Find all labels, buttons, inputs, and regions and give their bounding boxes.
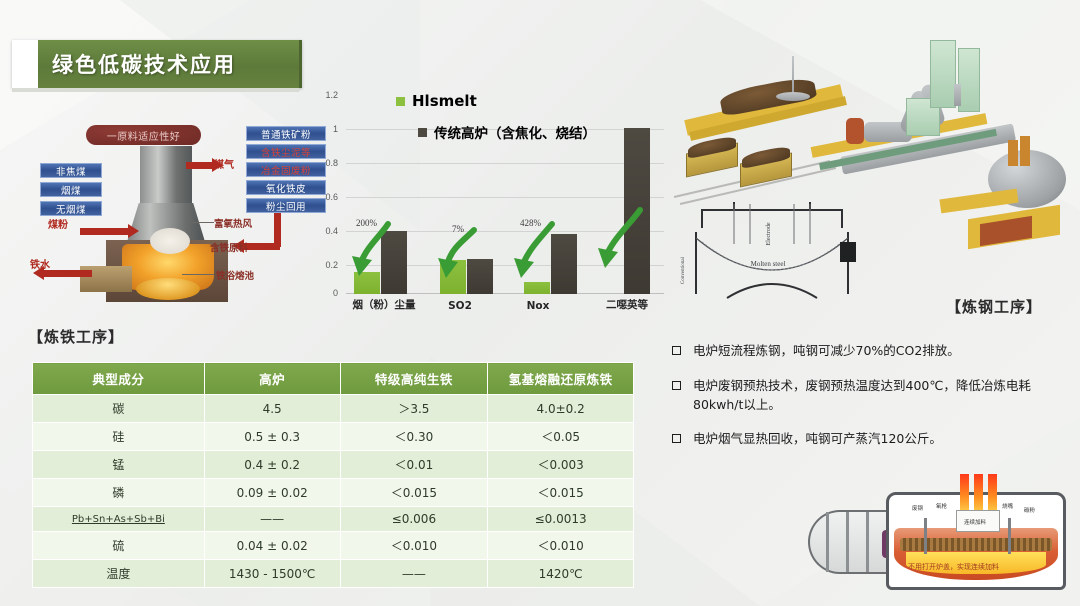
gridline <box>346 197 664 198</box>
cell-bf: 0.4 ± 0.2 <box>204 451 340 479</box>
table-row: 硫 0.04 ± 0.02 ＜0.010 ＜0.010 <box>33 532 634 560</box>
iron-feed-label: 含铁原料 <box>210 240 248 254</box>
hot-metal-label: 铁水 <box>30 256 50 271</box>
table-header-row: 典型成分 高炉 特级高纯生铁 氢基熔融还原炼铁 <box>33 363 634 395</box>
legend-blast-furnace: 传统高炉（含焦化、烧结） <box>418 122 596 142</box>
furnace-charge-pile <box>150 228 190 254</box>
ironmaking-diagram: 一原料适应性好 非焦煤 烟煤 无烟煤 普通铁矿粉 含铁尘泥等 冶金固废粉 氧化铁… <box>18 118 318 318</box>
y-tick-0.6: 0.6 <box>312 192 338 202</box>
table-row: 碳 4.5 ＞3.5 4.0±0.2 <box>33 395 634 423</box>
storage-silo <box>958 48 980 112</box>
tag-oxygen-lance: 氧枪 <box>936 502 947 510</box>
cell-hpi: ＜0.010 <box>340 532 488 560</box>
coal-box-anthracite: 无烟煤 <box>40 201 102 216</box>
cell-hpi: ≤0.006 <box>340 507 488 532</box>
cell-component: 温度 <box>33 560 205 588</box>
y-tick-0.2: 0.2 <box>312 260 338 270</box>
emissions-bar-chart: 1.2 1 0.8 0.6 0.4 0.2 0 Hlsmelt 传统高炉（含焦化… <box>312 84 664 316</box>
cell-bf: —— <box>204 507 340 532</box>
cell-hpi: ＞3.5 <box>340 395 488 423</box>
hopper <box>846 118 864 144</box>
furnace-slag-ring <box>136 278 200 300</box>
legend-swatch-icon <box>418 128 427 137</box>
ironmaking-section-tag: 【炼铁工序】 <box>28 326 124 347</box>
square-bullet-icon <box>672 434 681 443</box>
reduction-arrow-icon <box>508 220 560 286</box>
platform <box>939 189 1018 214</box>
title-bar-notch <box>12 40 38 88</box>
leader-line <box>188 222 214 223</box>
y-tick-0.8: 0.8 <box>312 158 338 168</box>
th-hydrogen-smelting: 氢基熔融还原炼铁 <box>488 363 634 395</box>
table-row: Pb+Sn+As+Sb+Bi —— ≤0.006 ≤0.0013 <box>33 507 634 532</box>
x-label-nox: Nox <box>508 300 568 312</box>
cell-component: 硅 <box>33 423 205 451</box>
cell-component: 磷 <box>33 479 205 507</box>
storage-silo <box>930 40 956 108</box>
legend-swatch-icon <box>396 97 405 106</box>
reduction-arrow-icon <box>430 224 480 284</box>
square-bullet-icon <box>672 346 681 355</box>
cell-hyd: 1420℃ <box>488 560 634 588</box>
cell-hyd: 4.0±0.2 <box>488 395 634 423</box>
legend-hlsmelt: Hlsmelt <box>396 92 477 110</box>
x-label-so2: SO2 <box>430 300 490 312</box>
table-row: 磷 0.09 ± 0.02 ＜0.015 ＜0.015 <box>33 479 634 507</box>
x-label-dust: 烟（粉）尘量 <box>336 297 432 312</box>
composition-table: 典型成分 高炉 特级高纯生铁 氢基熔融还原炼铁 碳 4.5 ＞3.5 4.0±0… <box>32 362 634 588</box>
cell-bf: 1430 - 1500℃ <box>204 560 340 588</box>
leader-line <box>182 274 214 275</box>
table-row: 锰 0.4 ± 0.2 ＜0.01 ＜0.003 <box>33 451 634 479</box>
bullet-text-1: 电炉短流程炼钢，吨钢可减少70%的CO2排放。 <box>693 342 960 361</box>
bullet-text-3: 电炉烟气显热回收，吨钢可产蒸汽120公斤。 <box>693 430 942 449</box>
oxygen-blast-label: 富氧热风 <box>214 216 252 230</box>
tunnel-rib <box>826 512 829 572</box>
cell-bf: 0.09 ± 0.02 <box>204 479 340 507</box>
reduction-arrow-icon <box>346 220 396 284</box>
x-label-dioxin: 二噁英等 <box>590 297 664 312</box>
cell-hpi: ＜0.30 <box>340 423 488 451</box>
furnace-electrode <box>1008 140 1018 166</box>
coal-powder-label: 煤粉 <box>48 216 68 231</box>
tag-continuous-charging: 连续加料 <box>964 518 986 526</box>
eaf-caption: 不用打开炉盖，实现连续加料 <box>908 562 999 572</box>
tag-carbon-powder: 碳粉 <box>1024 506 1035 514</box>
cell-component: Pb+Sn+As+Sb+Bi <box>33 507 205 532</box>
benefits-bullet-list: 电炉短流程炼钢，吨钢可减少70%的CO2排放。 电炉废钢预热技术，废钢预热温度达… <box>672 342 1072 465</box>
crane-cable <box>792 56 794 96</box>
gas-label: 煤气 <box>214 156 234 171</box>
cell-hyd: ≤0.0013 <box>488 507 634 532</box>
svg-text:Conventional: Conventional <box>681 256 686 284</box>
iron-feed-down <box>274 213 281 247</box>
cell-component: 碳 <box>33 395 205 423</box>
th-high-purity-iron: 特级高纯生铁 <box>340 363 488 395</box>
cell-hyd: ＜0.010 <box>488 532 634 560</box>
cell-bf: 0.5 ± 0.3 <box>204 423 340 451</box>
y-tick-0.4: 0.4 <box>312 226 338 236</box>
cell-hpi: —— <box>340 560 488 588</box>
svg-text:Electrode: Electrode <box>766 222 772 245</box>
cell-bf: 4.5 <box>204 395 340 423</box>
cell-hyd: ＜0.003 <box>488 451 634 479</box>
table-row: 硅 0.5 ± 0.3 ＜0.30 ＜0.05 <box>33 423 634 451</box>
tunnel-rib <box>866 512 869 572</box>
coal-box-bituminous: 烟煤 <box>40 182 102 197</box>
legend-label-hlsmelt: Hlsmelt <box>412 92 477 110</box>
furnace-shaft <box>140 146 192 206</box>
cell-component: 硫 <box>33 532 205 560</box>
furnace-electrode <box>1020 136 1030 166</box>
burner-lance <box>1008 518 1011 554</box>
tunnel-rib <box>846 512 849 572</box>
electrode-icon <box>988 474 997 514</box>
silo-leg <box>954 84 961 106</box>
steelmaking-plant-illustration: Molten steel Electrode Conventional <box>668 22 1080 318</box>
cell-component: 锰 <box>33 451 205 479</box>
tag-burner: 烧嘴 <box>1002 502 1013 510</box>
scrap-layer <box>900 538 1052 551</box>
legend-label-blast-furnace: 传统高炉（含焦化、烧结） <box>434 122 596 142</box>
slide-title-banner: 绿色低碳技术应用 <box>12 40 302 88</box>
square-bullet-icon <box>672 381 681 390</box>
svg-text:Molten steel: Molten steel <box>751 260 786 268</box>
ladle-cross-section-drawing: Molten steel Electrode Conventional <box>672 198 872 318</box>
cell-hyd: ＜0.015 <box>488 479 634 507</box>
cell-bf: 0.04 ± 0.02 <box>204 532 340 560</box>
gridline <box>346 163 664 164</box>
coal-powder-arrow <box>80 228 128 235</box>
raw-material-adaptability-label: 一原料适应性好 <box>86 125 201 145</box>
y-tick-1: 1 <box>312 124 338 134</box>
cell-hpi: ＜0.015 <box>340 479 488 507</box>
list-item: 电炉废钢预热技术，废钢预热温度达到400℃，降低冶炼电耗80kwh/t以上。 <box>672 377 1072 415</box>
bullet-text-2: 电炉废钢预热技术，废钢预热温度达到400℃，降低冶炼电耗80kwh/t以上。 <box>693 377 1072 415</box>
th-component: 典型成分 <box>33 363 205 395</box>
electrode-icon <box>974 474 983 514</box>
page-title: 绿色低碳技术应用 <box>52 49 236 79</box>
table-row: 温度 1430 - 1500℃ —— 1420℃ <box>33 560 634 588</box>
gas-arrow <box>186 162 212 169</box>
coal-box-non-coking: 非焦煤 <box>40 163 102 178</box>
hot-metal-arrow <box>44 270 92 277</box>
tag-scrap: 废钢 <box>912 504 923 512</box>
th-blast-furnace: 高炉 <box>204 363 340 395</box>
y-tick-1.2: 1.2 <box>312 90 338 100</box>
iron-bath-label: 铁浴熔池 <box>216 268 254 282</box>
list-item: 电炉短流程炼钢，吨钢可减少70%的CO2排放。 <box>672 342 1072 361</box>
eaf-continuous-charging-illustration: 废钢 氧枪 烧嘴 碳粉 连续加料 不用打开炉盖，实现连续加料 <box>808 474 1080 606</box>
grab-bucket <box>776 92 810 101</box>
cell-hpi: ＜0.01 <box>340 451 488 479</box>
y-tick-0: 0 <box>312 288 338 298</box>
list-item: 电炉烟气显热回收，吨钢可产蒸汽120公斤。 <box>672 430 1072 449</box>
reduction-arrow-icon <box>590 206 648 276</box>
electrode-icon <box>960 474 969 514</box>
cell-hyd: ＜0.05 <box>488 423 634 451</box>
oxygen-lance <box>924 518 927 554</box>
